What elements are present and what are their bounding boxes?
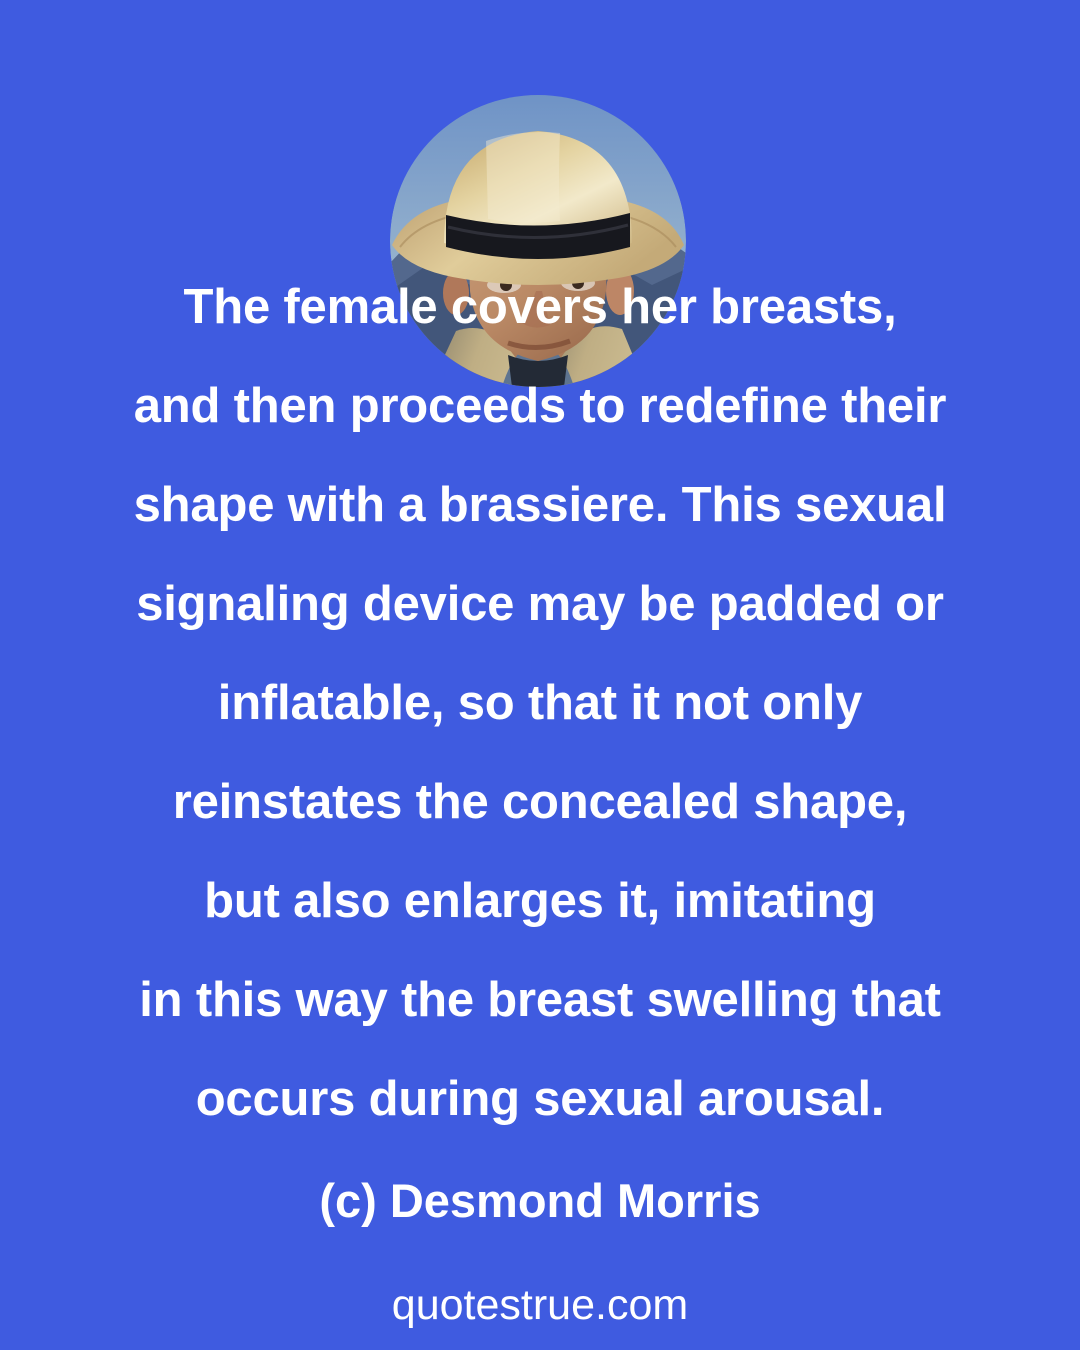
quote-line: and then proceeds to redefine their — [0, 357, 1080, 456]
quote-line: occurs during sexual arousal. — [0, 1050, 1080, 1149]
quote-line: signaling device may be padded or — [0, 555, 1080, 654]
quote-line: but also enlarges it, imitating — [0, 852, 1080, 951]
quote-line: shape with a brassiere. This sexual — [0, 456, 1080, 555]
quote-card: The female covers her breasts, and then … — [0, 0, 1080, 1350]
site-watermark: quotestrue.com — [0, 1279, 1080, 1331]
quote-line: in this way the breast swelling that — [0, 951, 1080, 1050]
quote-line: inflatable, so that it not only — [0, 654, 1080, 753]
quote-line: The female covers her breasts, — [0, 258, 1080, 357]
portrait-hat-highlight — [486, 132, 560, 223]
quote-line: reinstates the concealed shape, — [0, 753, 1080, 852]
quote-attribution: (c) Desmond Morris — [0, 1172, 1080, 1230]
quote-text: The female covers her breasts, and then … — [0, 258, 1080, 1149]
